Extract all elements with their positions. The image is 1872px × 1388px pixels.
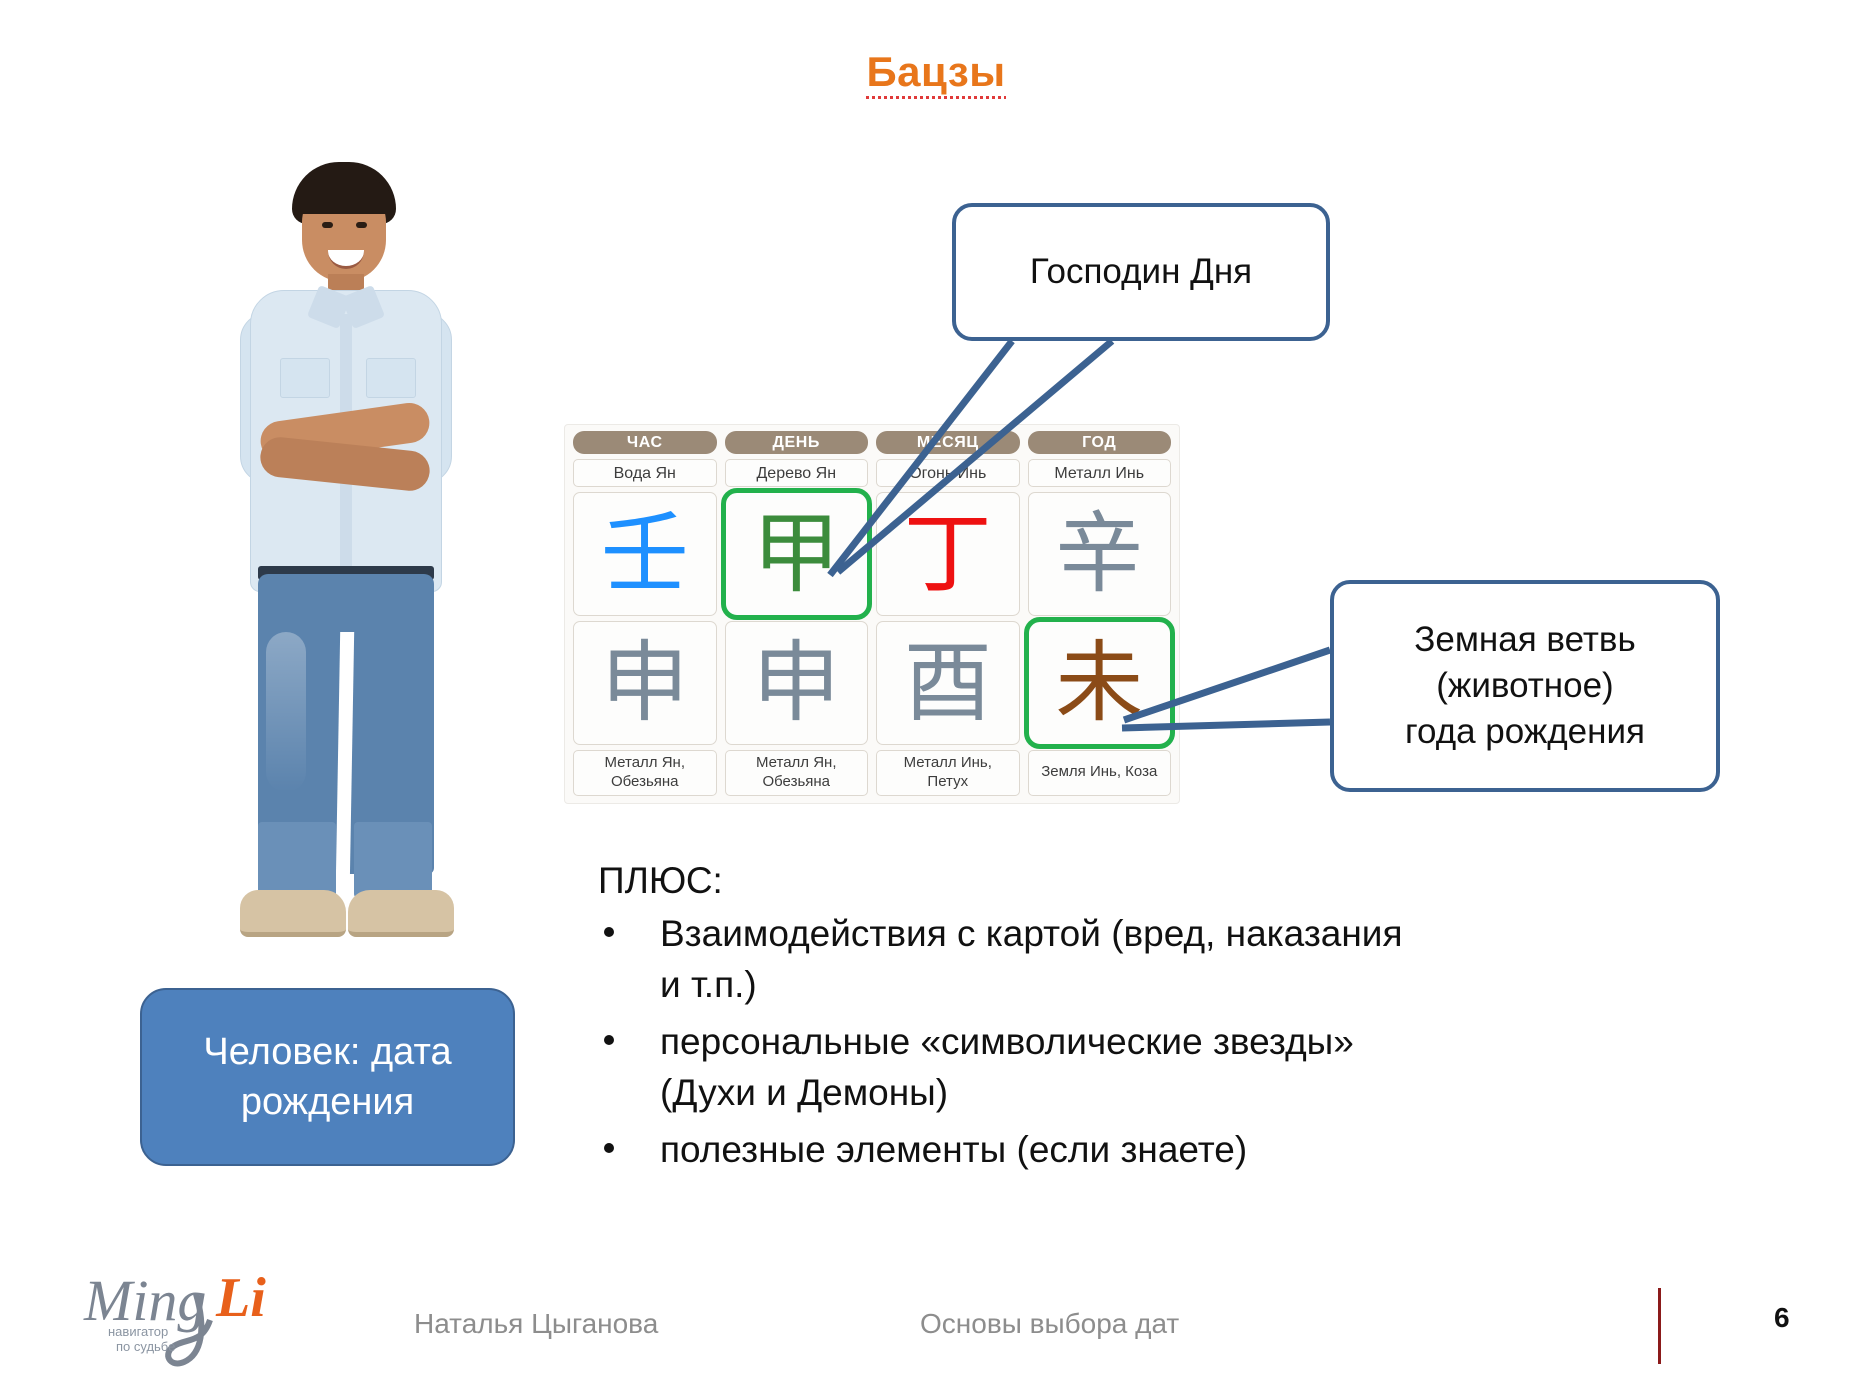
bazi-branch-year[interactable]: 未 — [1028, 621, 1172, 745]
plus-item-text: персональные «символические звезды» (Дух… — [660, 1021, 1354, 1113]
list-item: Взаимодействия с картой (вред, наказания… — [598, 908, 1428, 1010]
list-item: персональные «символические звезды» (Дух… — [598, 1016, 1428, 1118]
bazi-branch-month[interactable]: 酉 — [876, 621, 1020, 745]
bazi-heavenly-stem-row: 壬 甲 丁 辛 — [573, 492, 1171, 616]
plus-item-text: полезные элементы (если знаете) — [660, 1129, 1247, 1170]
bullet-icon — [604, 1035, 614, 1045]
logo-tagline-line2: по судьбе — [116, 1339, 175, 1354]
bazi-stem-desc-year: Металл Инь — [1028, 459, 1172, 487]
logo-tagline-line1: навигатор — [108, 1324, 168, 1339]
person-photo — [188, 162, 498, 952]
bazi-branch-desc-hour: Металл Ян, Обезьяна — [573, 750, 717, 796]
mingli-logo: Ming Li навигатор по судьбе — [78, 1258, 298, 1380]
person-eye-left — [322, 222, 333, 228]
bazi-branch-desc-row: Металл Ян, Обезьяна Металл Ян, Обезьяна … — [573, 750, 1171, 796]
person-jeans-fade — [266, 632, 306, 792]
plus-item-text: Взаимодействия с картой (вред, наказания… — [660, 913, 1403, 1005]
footer-divider — [1658, 1288, 1661, 1364]
person-pocket-left — [280, 358, 330, 398]
bazi-stem-desc-day: Дерево Ян — [725, 459, 869, 487]
person-jean-cuff-left — [258, 822, 336, 898]
callout-day-master-text: Господин Дня — [1030, 252, 1252, 292]
footer-subject: Основы выбора дат — [920, 1308, 1179, 1340]
person-label-box: Человек: дата рождения — [140, 988, 515, 1166]
bazi-stem-desc-row: Вода Ян Дерево Ян Огонь Инь Металл Инь — [573, 459, 1171, 487]
bazi-stem-desc-month: Огонь Инь — [876, 459, 1020, 487]
bazi-stem-day[interactable]: 甲 — [725, 492, 869, 616]
bazi-chart-table: ЧАС ДЕНЬ МЕСЯЦ ГОД Вода Ян Дерево Ян Ого… — [564, 424, 1180, 804]
page-title-text: Бацзы — [866, 48, 1005, 99]
plus-block: ПЛЮС: Взаимодействия с картой (вред, нак… — [598, 860, 1428, 1181]
bazi-header-day: ДЕНЬ — [725, 431, 869, 454]
bazi-stem-hour[interactable]: 壬 — [573, 492, 717, 616]
callout-day-master: Господин Дня — [952, 203, 1330, 341]
callout-earth-branch: Земная ветвь (животное) года рождения — [1330, 580, 1720, 792]
bazi-branch-desc-day: Металл Ян, Обезьяна — [725, 750, 869, 796]
bazi-header-hour: ЧАС — [573, 431, 717, 454]
plus-heading: ПЛЮС: — [598, 860, 1428, 902]
bazi-header-month: МЕСЯЦ — [876, 431, 1020, 454]
bazi-stem-month[interactable]: 丁 — [876, 492, 1020, 616]
mingli-logo-icon: Ming Li навигатор по судьбе — [78, 1258, 298, 1380]
bazi-header-row: ЧАС ДЕНЬ МЕСЯЦ ГОД — [573, 431, 1171, 454]
logo-accent-text: Li — [215, 1267, 266, 1329]
person-pocket-right — [366, 358, 416, 398]
bazi-earthly-branch-row: 申 申 酉 未 — [573, 621, 1171, 745]
footer-author: Наталья Цыганова — [414, 1308, 658, 1340]
person-shoe-left — [240, 890, 346, 937]
person-hair-front — [294, 178, 394, 214]
plus-list: Взаимодействия с картой (вред, наказания… — [598, 908, 1428, 1175]
bazi-stem-desc-hour: Вода Ян — [573, 459, 717, 487]
person-label-text: Человек: дата рождения — [203, 1027, 451, 1127]
bazi-branch-day[interactable]: 申 — [725, 621, 869, 745]
bazi-header-year: ГОД — [1028, 431, 1172, 454]
person-shoe-right — [348, 890, 454, 937]
list-item: полезные элементы (если знаете) — [598, 1124, 1428, 1175]
bullet-icon — [604, 927, 614, 937]
bazi-branch-desc-year: Земля Инь, Коза — [1028, 750, 1172, 796]
person-jean-cuff-right — [354, 822, 432, 898]
callout-earth-branch-text: Земная ветвь (животное) года рождения — [1405, 617, 1645, 756]
page-number: 6 — [1774, 1302, 1790, 1334]
bazi-branch-hour[interactable]: 申 — [573, 621, 717, 745]
bazi-branch-desc-month: Металл Инь, Петух — [876, 750, 1020, 796]
bullet-icon — [604, 1143, 614, 1153]
bazi-stem-year[interactable]: 辛 — [1028, 492, 1172, 616]
person-eye-right — [356, 222, 367, 228]
page-title: Бацзы — [0, 48, 1872, 99]
